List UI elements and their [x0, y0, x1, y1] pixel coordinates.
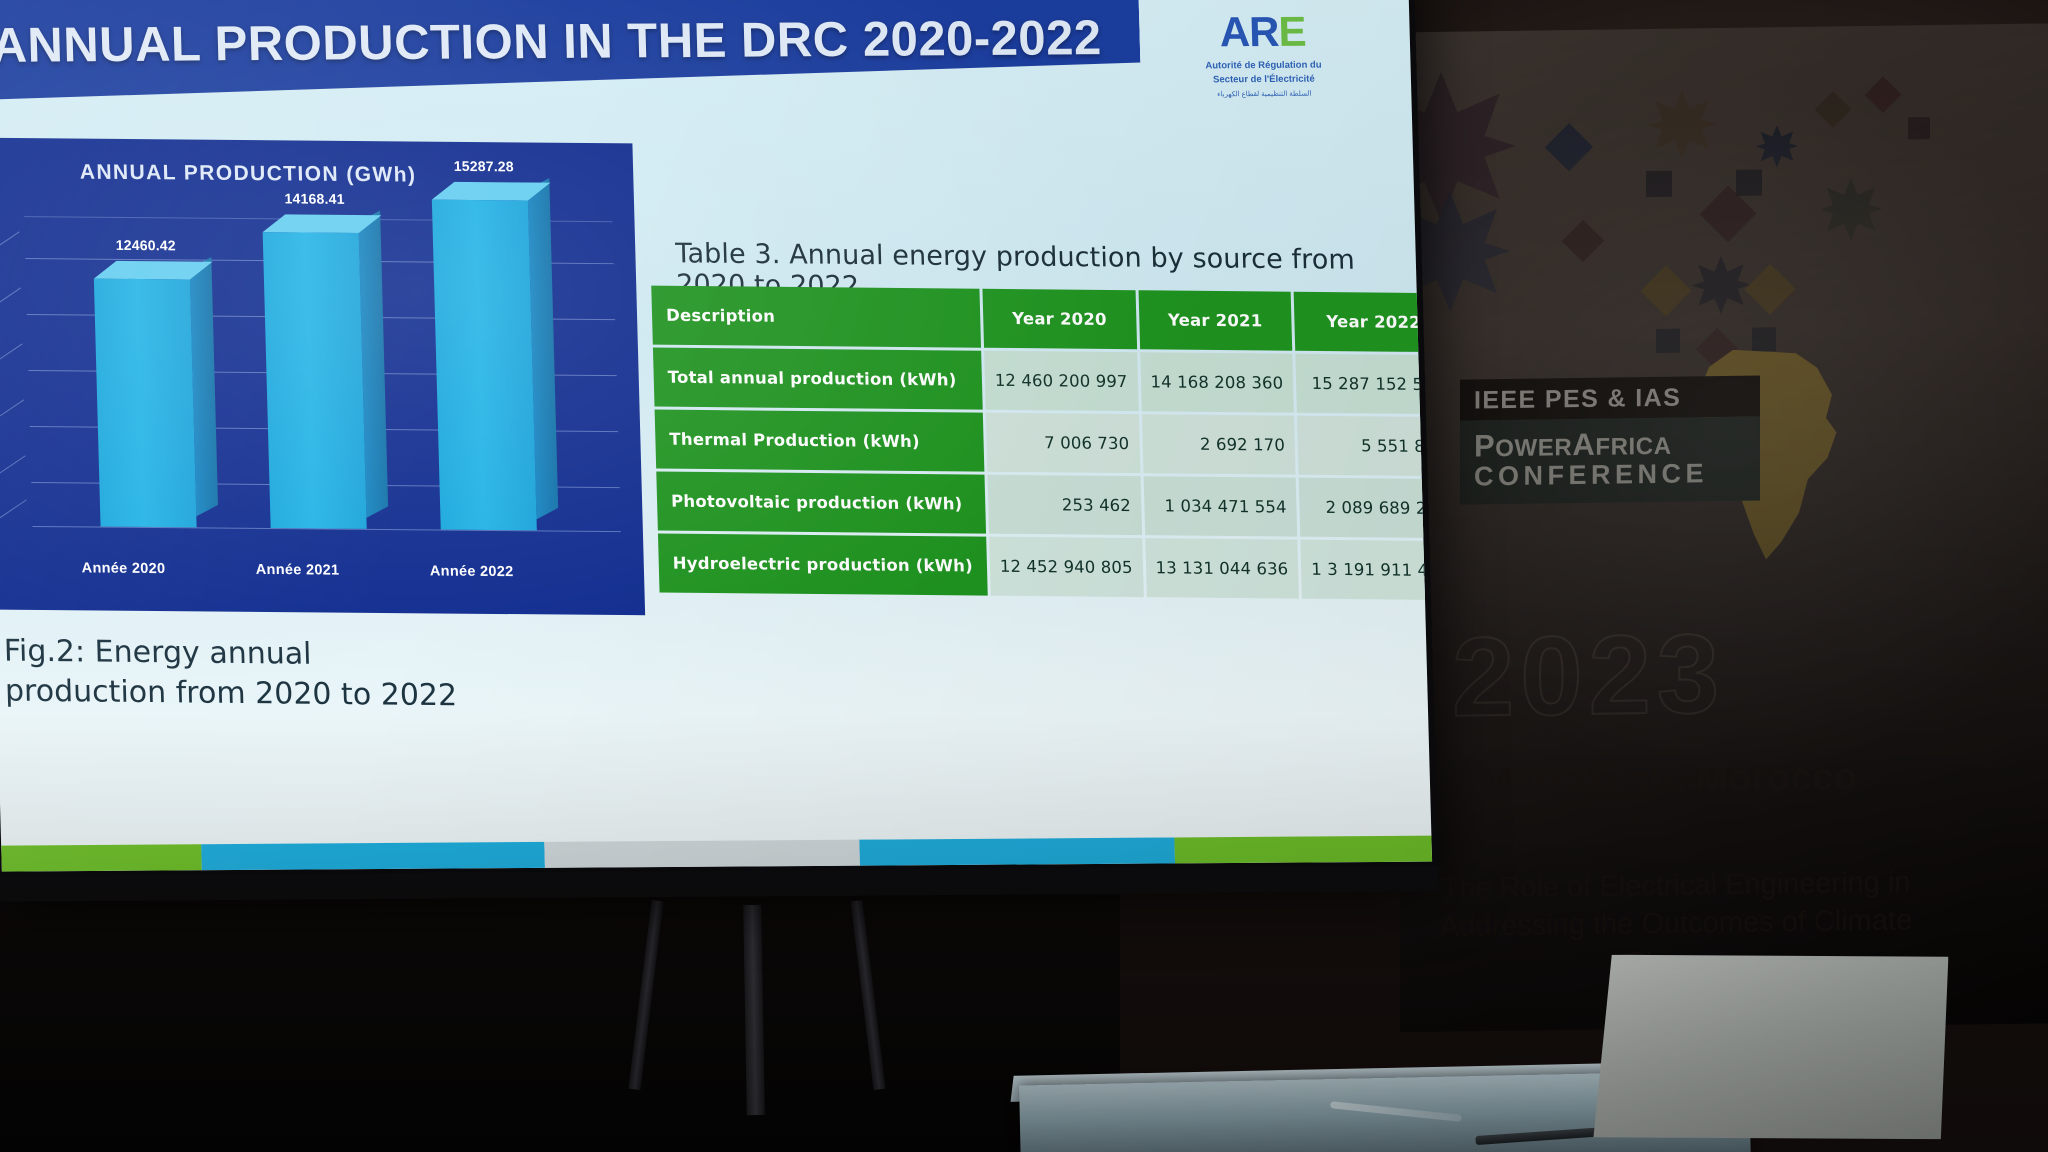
- cell-2021: 2 692 170: [1141, 414, 1295, 474]
- table-row: Photovoltaic production (kWh) 253 462 1 …: [656, 472, 1432, 539]
- are-logo: ARE Autorité de Régulation du Secteur de…: [1197, 11, 1329, 98]
- conference-banner: IEEE PES & IAS POWERAFRICA CONFERENCE 20…: [1400, 23, 2048, 1032]
- cell-2021: 14 168 208 360: [1140, 352, 1294, 412]
- cell-2020: 12 452 940 805: [989, 537, 1143, 597]
- col-year-2021: Year 2021: [1138, 290, 1292, 350]
- row-label: Total annual production (kWh): [653, 348, 983, 410]
- production-table: Description Year 2020 Year 2021 Year 202…: [648, 283, 1432, 604]
- strip-segment-gray-middle: [545, 840, 860, 868]
- bar-front-2022: [432, 200, 537, 531]
- table-row: Total annual production (kWh) 12 460 200…: [653, 348, 1432, 415]
- table-row: Thermal Production (kWh) 7 006 730 2 692…: [655, 410, 1433, 477]
- cell-2020: 253 462: [987, 475, 1141, 535]
- table-row: Hydroelectric production (kWh) 12 452 94…: [658, 533, 1432, 600]
- row-label: Hydroelectric production (kWh): [658, 533, 988, 595]
- laptop-lid: [1590, 949, 1951, 1152]
- bar-value-2020: 12460.42: [116, 237, 176, 254]
- col-year-2020: Year 2020: [982, 289, 1136, 349]
- page-title: ANNUAL PRODUCTION IN THE DRC 2020-2022: [0, 10, 1102, 74]
- col-description: Description: [651, 286, 981, 348]
- presentation-slide: ANNUAL PRODUCTION IN THE DRC 2020-2022 A…: [0, 0, 1432, 872]
- cell-2021: 1 034 471 554: [1143, 476, 1297, 536]
- bar-value-2021: 14168.41: [284, 190, 344, 207]
- strip-segment-cyan-left: [201, 842, 545, 870]
- row-label: Photovoltaic production (kWh): [656, 472, 986, 534]
- x-label-2021: Année 2021: [256, 562, 340, 579]
- are-wordmark: ARE: [1197, 11, 1328, 54]
- projection-screen: ANNUAL PRODUCTION IN THE DRC 2020-2022 A…: [0, 0, 1439, 902]
- cell-2021: 13 131 044 636: [1145, 538, 1299, 598]
- screen-stand-post: [743, 905, 765, 1115]
- strip-segment-cyan-right: [859, 837, 1174, 865]
- cell-2022: 5 551 870: [1297, 416, 1432, 476]
- table-header-row: Description Year 2020 Year 2021 Year 202…: [651, 286, 1432, 353]
- screen-frame: ANNUAL PRODUCTION IN THE DRC 2020-2022 A…: [0, 0, 1439, 902]
- x-label-2022: Année 2022: [430, 563, 514, 580]
- cell-2020: 12 460 200 997: [984, 351, 1138, 411]
- room-floor-dark: [0, 880, 1120, 1152]
- bar-2021: 14168.41: [263, 232, 367, 529]
- bar-2022: 15287.28: [432, 200, 537, 531]
- cell-2020: 7 006 730: [986, 413, 1140, 473]
- are-subtitle-arabic: السلطة التنظيمية لقطاع الكهرباء: [1199, 89, 1329, 98]
- cell-2022: 1 3 191 911 445: [1300, 540, 1432, 600]
- bar-front-2020: [94, 279, 197, 528]
- are-subtitle: Autorité de Régulation du Secteur de l'É…: [1198, 59, 1329, 87]
- bar-value-2022: 15287.28: [454, 158, 514, 175]
- slide-title-band: ANNUAL PRODUCTION IN THE DRC 2020-2022: [0, 0, 1141, 102]
- col-year-2022: Year 2022: [1294, 292, 1432, 352]
- figure-caption: Fig.2: Energy annual production from 202…: [3, 632, 475, 717]
- row-label: Thermal Production (kWh): [655, 410, 985, 472]
- banner-shading: [1400, 23, 2048, 1032]
- bar-2020: 12460.42: [94, 279, 197, 528]
- cell-2022: 15 287 152 522: [1295, 354, 1432, 414]
- annual-production-chart: ANNUAL PRODUCTION (GWh) .00 .00 .00 .00: [0, 137, 645, 616]
- strip-segment-green-right: [1174, 836, 1432, 864]
- x-label-2020: Année 2020: [81, 560, 165, 577]
- strip-segment-green-left: [1, 844, 202, 871]
- laptop: [1590, 949, 1951, 1152]
- bar-front-2021: [263, 232, 367, 529]
- cell-2022: 2 089 689 207: [1299, 478, 1432, 538]
